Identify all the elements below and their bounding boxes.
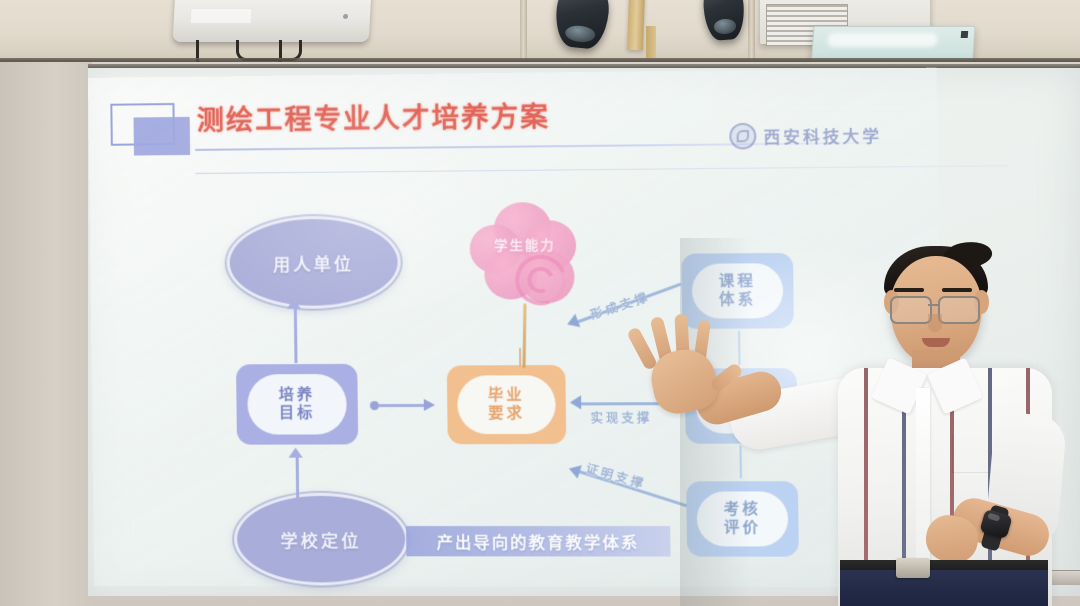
arrowhead-left-icon [570,395,581,409]
glasses-bridge [928,304,940,306]
slide-banner: 产出导向的教育教学体系 [406,526,671,556]
projector [173,0,372,42]
node-label-line1: 毕业 [488,387,525,405]
node-label-line2: 目标 [279,404,316,422]
edge-label-realization-support: 实现支撑 [591,409,653,426]
connector-school-to-goal [296,458,300,498]
node-label: 用人单位 [273,250,354,276]
camera-lens [713,19,736,35]
page-title: 测绘工程专业人才培养方案 [197,95,551,138]
university-emblem-icon [729,123,756,150]
university-logo: 西安科技大学 [729,121,882,149]
edge-label-proof-support: 证明支撑 [584,459,648,492]
node-inner: 毕业 要求 [458,375,556,434]
light-sheen [827,33,938,47]
node-inner: 培养 目标 [247,374,347,434]
glasses-lens-left [890,296,932,324]
student-ability-cloud: 学生能力 [463,202,588,365]
cloud-label: 学生能力 [478,234,572,254]
eyebrow-right [942,288,972,292]
lollipop-stick [523,303,527,368]
projector-indicator-icon [343,14,348,19]
side-wall [0,62,92,606]
header-rule-secondary [195,165,1009,174]
trousers [840,570,1048,606]
wood-slat [627,0,645,50]
arrowhead-up-icon [288,448,302,458]
classroom-photo-scene: 测绘工程专业人才培养方案 西安科技大学 用人单位 培养 目标 学校定位 毕业 要… [0,0,1080,606]
camera-dome-icon [702,0,746,41]
edge-label-formation-support: 形成支撑 [588,288,652,324]
diagram-node-school-positioning: 学校定位 [234,493,409,586]
connector-start-dot [370,401,379,410]
arrowhead-right-icon [424,399,435,411]
camera-dome-icon [553,0,611,51]
connector-goal-to-employer [294,309,298,363]
university-name: 西安科技大学 [763,122,882,148]
presenter [690,238,1080,606]
projector-vent [190,8,253,24]
arrowhead-up-icon [287,299,301,309]
diagram-node-graduation-requirements: 毕业 要求 [447,365,567,444]
glasses-lens-right [938,296,980,324]
wood-slat [646,26,656,58]
belt-buckle [896,558,930,578]
connector-cloud-to-graduation [519,348,521,366]
arrowhead-left-icon [567,462,582,479]
header-square-filled-icon [134,117,191,156]
node-label-line2: 要求 [488,405,525,423]
diagram-node-employer: 用人单位 [226,215,401,309]
nose [928,314,942,332]
node-label-line1: 培养 [279,386,316,404]
indicator-icon [961,31,968,38]
eyebrow-left [894,288,924,292]
diagram-node-training-goal: 培养 目标 [236,364,358,445]
connector-goal-to-graduation [379,404,424,407]
camera-lens [565,24,596,43]
node-label: 学校定位 [280,527,361,552]
banner-text: 产出导向的教育教学体系 [437,529,640,553]
ceiling [0,0,1080,68]
